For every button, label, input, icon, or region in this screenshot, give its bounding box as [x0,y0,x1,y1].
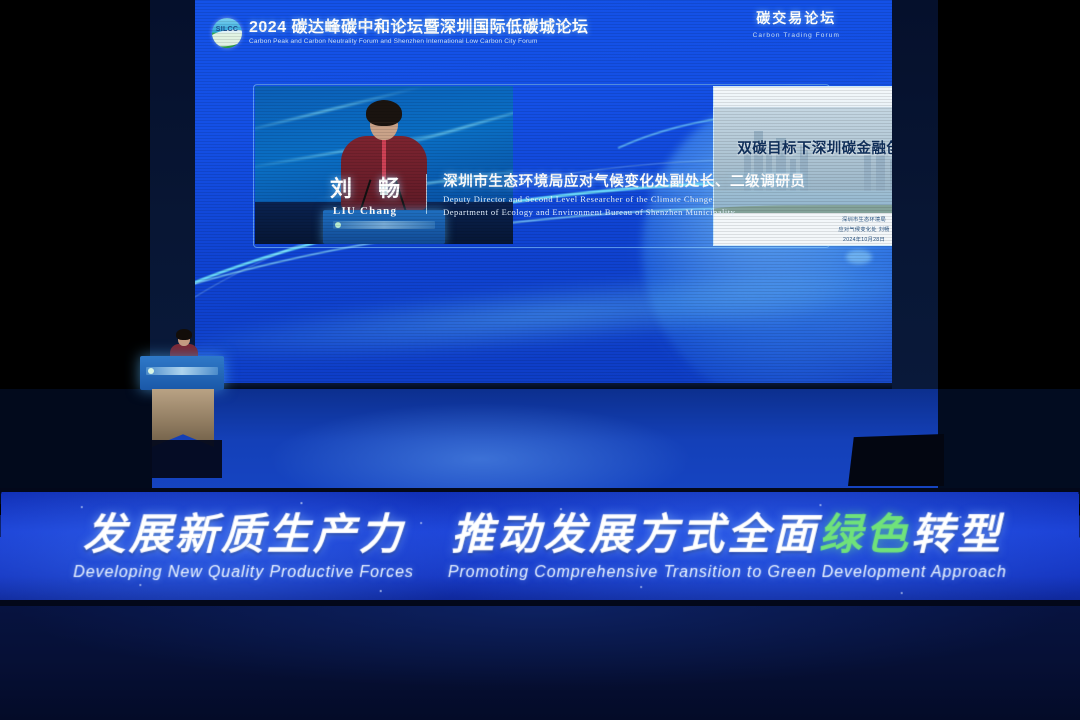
silcc-logo-text: SILCC [212,26,242,33]
video-podium-logo-icon [335,222,341,228]
presentation-slide-panel: 双碳目标下深圳碳金融创新实践白皮书 深圳市生态环境局 应对气候变化处 刘畅 20… [713,86,892,246]
video-podium-nameplate [333,221,435,229]
slide-title: 双碳目标下深圳碳金融创新实践白皮书 [714,137,892,158]
silcc-logo-icon: SILCC [212,18,242,48]
sub-forum-title-block: 碳交易论坛 Carbon Trading Forum [753,8,840,39]
podium-logo-icon [148,368,154,374]
speaker-block-divider [426,174,427,214]
stage-floor [150,389,940,504]
stage-speaker-hair [176,329,192,340]
sub-forum-title-cn: 碳交易论坛 [753,8,840,28]
podium-nameplate [146,367,218,375]
foreground-light-glow [0,606,1080,720]
stage-monitor-speaker [848,434,944,486]
banner-slogan-1-cn: 发展新质生产力 [83,514,405,557]
speaker-title-en-line1: Deputy Director and Second Level Researc… [443,194,805,204]
led-main-screen: SILCC 2024 碳达峰碳中和论坛暨深圳国际低碳城论坛 Carbon Pea… [195,0,892,385]
sub-forum-title-en: Carbon Trading Forum [753,32,840,39]
speaker-name-cn: 刘 畅 [320,171,410,203]
speaker-title-en-line2: Department of Ecology and Environment Bu… [443,207,805,217]
slide-building [864,155,871,193]
forum-title-cn: 2024 碳达峰碳中和论坛暨深圳国际低碳城论坛 [249,20,589,36]
forum-title-en: Carbon Peak and Carbon Neutrality Forum … [249,39,589,46]
speaker-title-block: 深圳市生态环境局应对气候变化处副处长、二级调研员 Deputy Director… [443,170,805,217]
banner-slogan-2: 推动发展方式全面绿色转型 Promoting Comprehensive Tra… [448,514,1007,582]
forum-title-block: 2024 碳达峰碳中和论坛暨深圳国际低碳城论坛 Carbon Peak and … [249,20,589,46]
conference-stage-photo: SILCC 2024 碳达峰碳中和论坛暨深圳国际低碳城论坛 Carbon Pea… [0,0,1080,720]
slide-subtitle-line3: 2024年10月28日 [714,236,892,243]
speaker-name-wrap: 刘 畅 LIU Chang [320,171,410,217]
banner-slogan-1: 发展新质生产力 Developing New Quality Productiv… [73,514,414,582]
screen-header: SILCC 2024 碳达峰碳中和论坛暨深圳国际低碳城论坛 Carbon Pea… [195,0,892,58]
slide-subtitle-line1: 深圳市生态环境局 [714,216,892,223]
banner-slogan-row: 发展新质生产力 Developing New Quality Productiv… [0,492,1080,604]
slide-subtitle-line2: 应对气候变化处 刘畅 [714,226,892,233]
video-speaker-glasses-icon [371,122,397,129]
podium-shadow [150,440,222,478]
banner-slogan-1-en: Developing New Quality Productive Forces [73,564,414,582]
banner-slogan-2-en: Promoting Comprehensive Transition to Gr… [448,564,1007,582]
banner-slogan-2-cn: 推动发展方式全面绿色转型 [451,514,1003,557]
live-video-panel [255,86,513,244]
speaker-name-en: LIU Chang [320,205,410,217]
stage-podium [140,356,224,390]
slide-building [890,160,892,193]
speaker-identification-block: 刘 畅 LIU Chang 深圳市生态环境局应对气候变化处副处长、二级调研员 D… [320,170,806,217]
stage-floor-right-shadow [938,389,1080,504]
stage-floor-left-shadow [0,389,152,504]
speaker-title-cn: 深圳市生态环境局应对气候变化处副处长、二级调研员 [443,170,805,191]
stage-front-banner: 发展新质生产力 Developing New Quality Productiv… [0,492,1080,604]
forum-logo-lockup: SILCC 2024 碳达峰碳中和论坛暨深圳国际低碳城论坛 Carbon Pea… [212,18,589,48]
